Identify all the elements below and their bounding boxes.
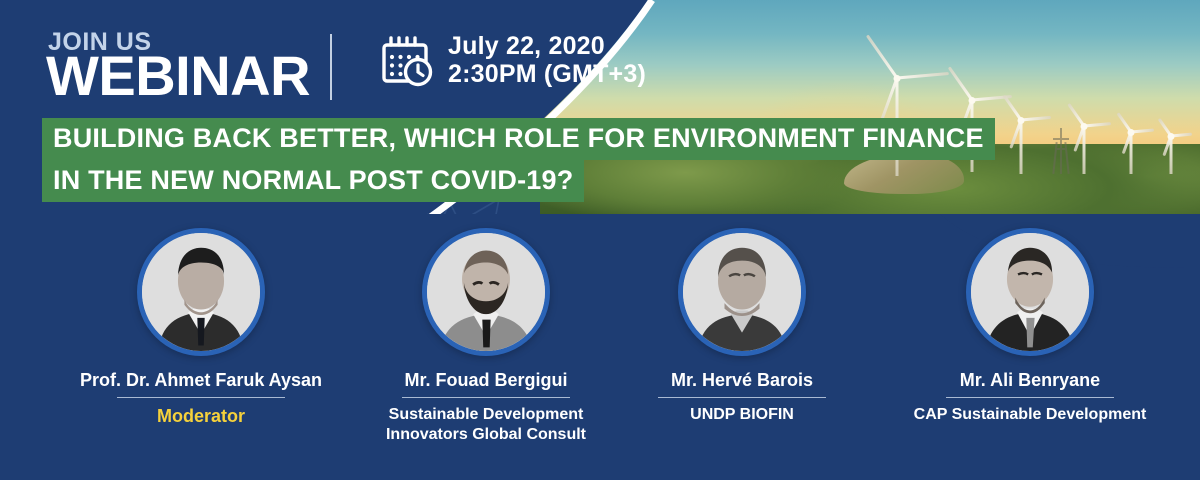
speaker-divider <box>402 397 570 398</box>
speaker-name: Mr. Hervé Barois <box>612 370 872 392</box>
event-time: 2:30PM (GMT+3) <box>448 60 646 88</box>
speaker-role: Moderator <box>56 405 346 428</box>
speaker-card-3[interactable]: Mr. Hervé Barois UNDP BIOFIN <box>612 228 872 425</box>
event-datetime: July 22, 2020 2:30PM (GMT+3) <box>382 32 646 88</box>
avatar <box>966 228 1094 356</box>
power-pylon-icon <box>1052 128 1070 174</box>
speaker-card-2[interactable]: Mr. Fouad Bergigui Sustainable Developme… <box>341 228 631 445</box>
speaker-divider <box>946 397 1114 398</box>
speaker-name: Mr. Fouad Bergigui <box>341 370 631 392</box>
speaker-role: CAP Sustainable Development <box>885 405 1175 425</box>
speaker-role-line-1: UNDP BIOFIN <box>690 406 794 423</box>
speaker-name: Prof. Dr. Ahmet Faruk Aysan <box>56 370 346 392</box>
speaker-role-line-1: CAP Sustainable Development <box>914 406 1147 423</box>
speaker-card-4[interactable]: Mr. Ali Benryane CAP Sustainable Develop… <box>885 228 1175 425</box>
headline-line-2: IN THE NEW NORMAL POST COVID-19? <box>42 160 584 202</box>
avatar <box>422 228 550 356</box>
calendar-clock-icon <box>382 32 436 88</box>
speaker-card-1[interactable]: Prof. Dr. Ahmet Faruk Aysan Moderator <box>56 228 346 427</box>
headline-line-1: BUILDING BACK BETTER, WHICH ROLE FOR ENV… <box>42 118 995 160</box>
wind-turbine-icon <box>1017 120 1024 174</box>
speaker-role-line-2: Innovators Global Consult <box>341 425 631 445</box>
speaker-divider <box>117 397 285 398</box>
speaker-role-line-1: Sustainable Development <box>389 406 584 423</box>
avatar <box>137 228 265 356</box>
wind-turbine-icon <box>1080 126 1087 174</box>
wind-turbine-icon <box>1168 136 1174 174</box>
event-date: July 22, 2020 <box>448 32 646 60</box>
speaker-name: Mr. Ali Benryane <box>885 370 1175 392</box>
wind-turbine-icon <box>1128 132 1134 174</box>
header-divider <box>330 34 332 100</box>
avatar <box>678 228 806 356</box>
webinar-banner: JOIN US WEBINAR July 22, 2020 2:30PM (GM… <box>0 0 1200 480</box>
speaker-role: UNDP BIOFIN <box>612 405 872 425</box>
speaker-role: Sustainable Development Innovators Globa… <box>341 405 631 445</box>
speaker-role-line-1: Moderator <box>157 406 245 426</box>
page-title: WEBINAR <box>46 48 310 104</box>
speaker-divider <box>658 397 826 398</box>
